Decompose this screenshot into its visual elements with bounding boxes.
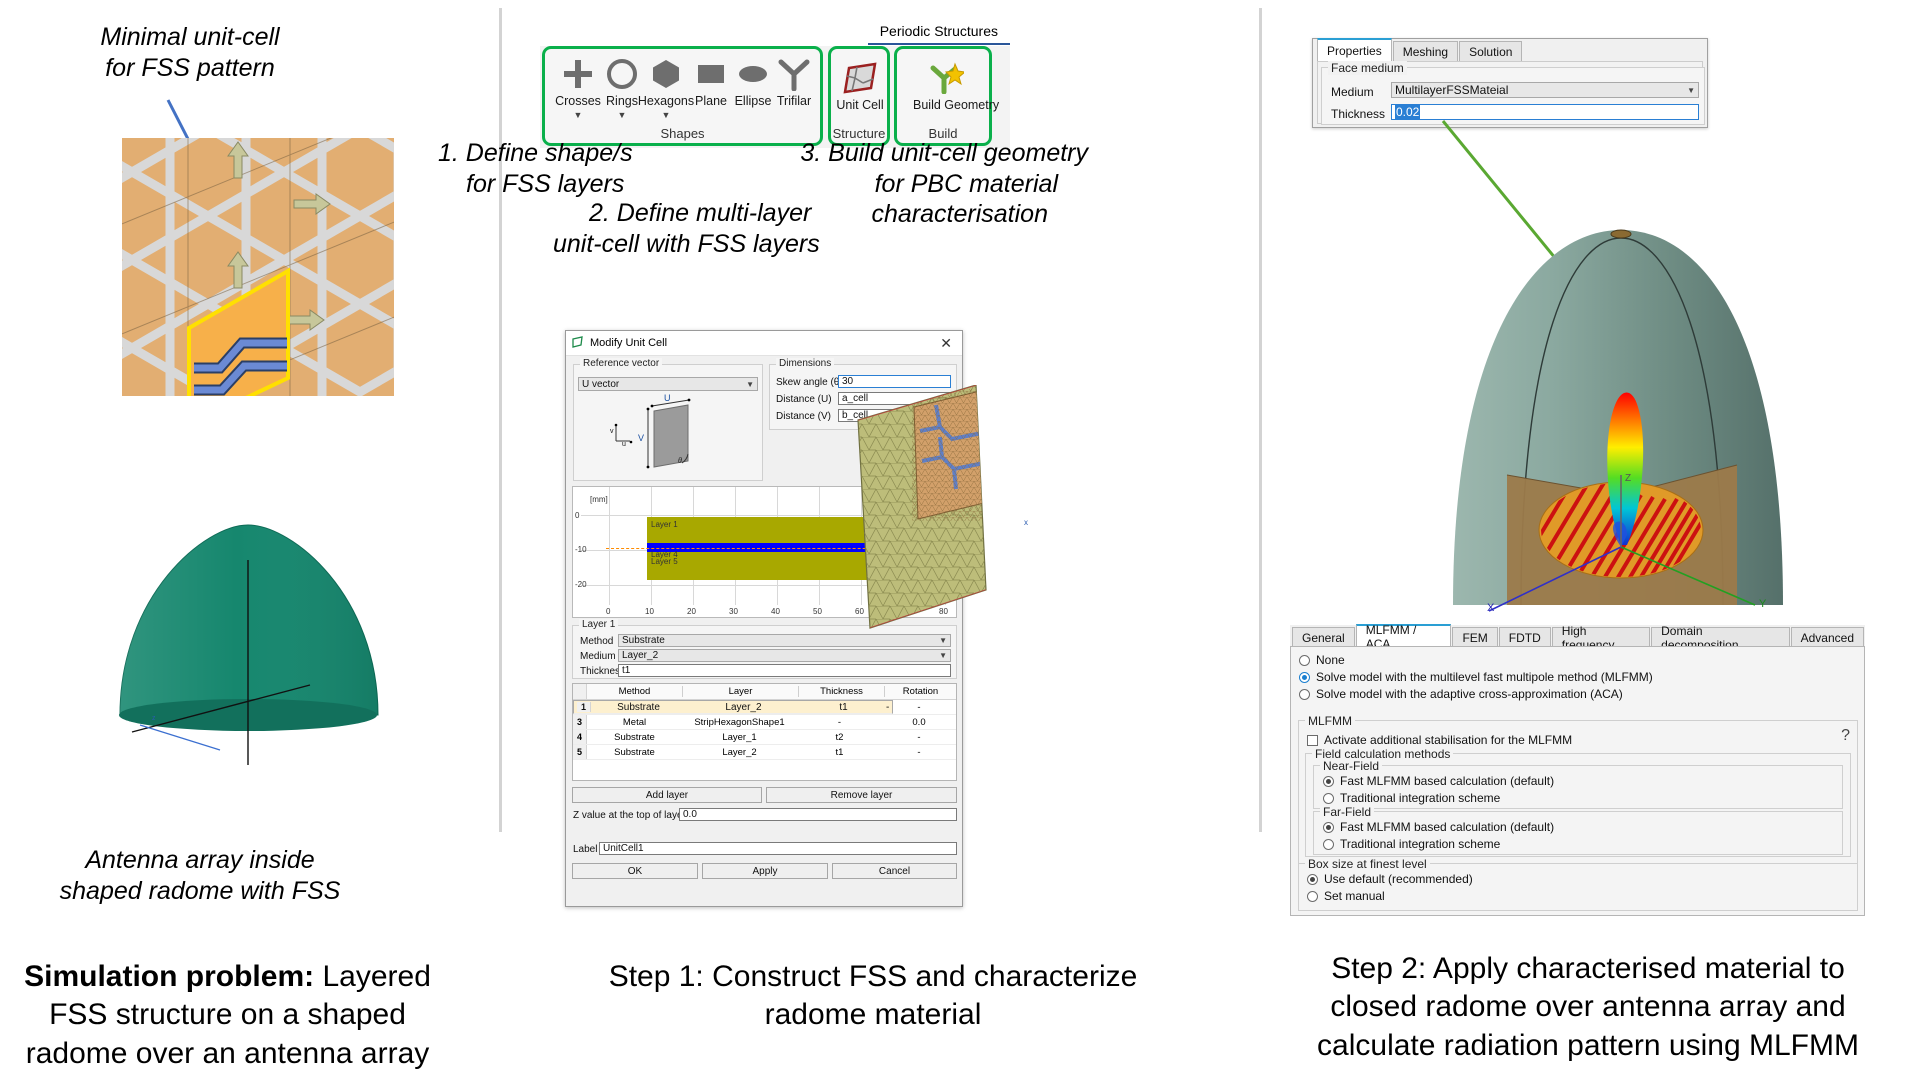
option-label: Set manual: [1324, 889, 1385, 903]
svg-text:θ: θ: [678, 456, 682, 465]
layer-method-select[interactable]: Substrate ▼: [618, 634, 951, 647]
medium-select[interactable]: MultilayerFSSMateial ▼: [1391, 82, 1699, 98]
table-row[interactable]: 4 Substrate Layer_1 t2 -: [573, 730, 956, 745]
y-tick: -20: [575, 580, 587, 589]
label-field-label: Label: [573, 844, 597, 855]
thickness-value: 0.02: [1395, 105, 1420, 119]
row-thickness: t1: [801, 702, 886, 713]
ok-button[interactable]: OK: [572, 863, 698, 879]
table-header-row: Method Layer Thickness Rotation: [573, 684, 956, 700]
unit-cell-icon: [829, 57, 891, 99]
table-header-index: [573, 684, 587, 699]
box-size-manual-option[interactable]: Set manual: [1307, 889, 1385, 903]
row-rotation: -: [882, 732, 956, 743]
row-rotation: -: [886, 702, 889, 713]
fss-unit-cell-mesh-view: x: [848, 385, 1038, 630]
layer-medium-label: Medium: [580, 651, 616, 662]
row-method: Substrate: [587, 747, 682, 758]
caption-simulation-problem: Simulation problem: Layered FSS structur…: [0, 958, 455, 1073]
ribbon-button-label: Build Geometry: [913, 99, 979, 112]
radio-mlfmm[interactable]: [1299, 672, 1310, 683]
annotation-line: shaped radome with FSS: [30, 876, 370, 907]
far-field-traditional-option[interactable]: Traditional integration scheme: [1323, 837, 1500, 851]
option-label: Fast MLFMM based calculation (default): [1340, 774, 1554, 788]
chart-stack-label: Layer 5: [651, 557, 678, 566]
cancel-button[interactable]: Cancel: [832, 863, 957, 879]
apply-button[interactable]: Apply: [702, 863, 828, 879]
tab-high-frequency[interactable]: High frequency: [1552, 627, 1650, 647]
svg-text:U: U: [664, 393, 671, 403]
add-layer-button[interactable]: Add layer: [572, 787, 762, 803]
build-geometry-icon: [913, 57, 979, 99]
group-label: MLFMM: [1305, 714, 1355, 728]
annotation-step-3: 3. Build unit-cell geometry for PBC mate…: [758, 138, 1088, 230]
chevron-down-icon: ▼: [939, 636, 947, 645]
layer-method-label: Method: [580, 636, 613, 647]
layer-thickness-input[interactable]: t1: [618, 664, 951, 677]
option-label: Solve model with the multilevel fast mul…: [1316, 670, 1653, 684]
group-label: Near-Field: [1320, 759, 1382, 773]
layer-table[interactable]: Method Layer Thickness Rotation 1 Substr…: [572, 683, 957, 781]
caption-line: Step 2: Apply characterised material to: [1253, 950, 1920, 988]
tab-fdtd[interactable]: FDTD: [1499, 627, 1551, 647]
row-index: 3: [573, 715, 587, 729]
periodic-structures-ribbon: Periodic Structures Crosses ▼: [540, 20, 1010, 148]
radio-near-field-fast[interactable]: [1323, 776, 1334, 787]
thickness-label: Thickness: [1331, 107, 1385, 121]
tab-meshing[interactable]: Meshing: [1393, 41, 1458, 61]
caption-line: radome material: [473, 996, 1273, 1034]
group-label: Reference vector: [580, 358, 662, 369]
ribbon-tab-row: Periodic Structures: [540, 20, 1010, 46]
row-thickness: t1: [797, 747, 882, 758]
y-tick: -10: [575, 545, 587, 554]
properties-tab-strip: Properties Meshing Solution: [1313, 39, 1707, 61]
tab-solution[interactable]: Solution: [1459, 41, 1522, 61]
annotation-line: Minimal unit-cell: [40, 22, 340, 53]
option-label: None: [1316, 653, 1345, 667]
fss-pattern-image: [122, 138, 394, 396]
x-tick: 50: [813, 607, 822, 616]
near-field-traditional-option[interactable]: Traditional integration scheme: [1323, 791, 1500, 805]
ribbon-body: Crosses ▼ Rings ▼ Hexagons: [540, 46, 1010, 148]
row-rotation: 0.0: [882, 717, 956, 728]
medium-label: Medium: [1331, 85, 1374, 99]
table-row[interactable]: 1 Substrate Layer_2 t1 -: [573, 700, 893, 714]
row-method: Metal: [587, 717, 682, 728]
label-value: UnitCell1: [603, 843, 644, 854]
annotation-line: for FSS layers: [438, 169, 768, 200]
ribbon-group-shapes: Crosses ▼ Rings ▼ Hexagons: [542, 46, 823, 146]
medium-value: MultilayerFSSMateial: [1395, 83, 1508, 97]
x-tick: 40: [771, 607, 780, 616]
ribbon-button-build-geometry[interactable]: Build Geometry: [913, 57, 979, 112]
row-thickness: t2: [797, 732, 882, 743]
x-tick: 0: [606, 607, 610, 616]
annotation-antenna-array-inside: Antenna array inside shaped radome with …: [30, 845, 370, 906]
tab-periodic-structures[interactable]: Periodic Structures: [868, 20, 1010, 45]
group-label: Dimensions: [776, 358, 834, 369]
row-layer: Layer_1: [682, 732, 797, 743]
annotation-line: for FSS pattern: [40, 53, 340, 84]
option-label: Traditional integration scheme: [1340, 837, 1500, 851]
svg-text:V: V: [638, 433, 644, 443]
x-tick: 10: [645, 607, 654, 616]
table-header-thickness: Thickness: [799, 686, 885, 697]
svg-text:u: u: [622, 441, 626, 448]
reference-vector-value: U vector: [582, 379, 619, 390]
ribbon-group-build: Build Geometry Build: [894, 46, 992, 146]
annotation-line: for PBC material: [758, 169, 1088, 200]
box-size-default-option[interactable]: Use default (recommended): [1307, 872, 1473, 886]
annotation-line: unit-cell with FSS layers: [553, 229, 913, 260]
caption-line: closed radome over antenna array and: [1253, 988, 1920, 1026]
label-input[interactable]: UnitCell1: [599, 842, 957, 855]
chevron-down-icon: ▼: [1687, 86, 1695, 95]
tab-properties[interactable]: Properties: [1317, 38, 1392, 61]
option-label: Fast MLFMM based calculation (default): [1340, 820, 1554, 834]
ribbon-group-structure: Unit Cell Structure: [828, 46, 890, 146]
ribbon-button-label: Unit Cell: [829, 99, 891, 112]
table-header-method: Method: [587, 686, 683, 697]
tab-general[interactable]: General: [1292, 627, 1355, 647]
grid-line: [609, 487, 610, 605]
y-tick: 0: [575, 511, 579, 520]
row-layer: Layer_2: [686, 702, 801, 713]
radio-far-field-fast[interactable]: [1323, 822, 1334, 833]
layer-medium-select[interactable]: Layer_2 ▼: [618, 649, 951, 662]
radio-box-size-manual[interactable]: [1307, 891, 1318, 902]
z-top-label: Z value at the top of layer 1: [573, 810, 694, 821]
table-row[interactable]: 5 Substrate Layer_2 t1 -: [573, 745, 956, 760]
close-icon[interactable]: ✕: [936, 336, 956, 350]
group-label: Box size at finest level: [1305, 857, 1430, 871]
caption-line: Step 1: Construct FSS and characterize: [473, 958, 1273, 996]
tab-fem[interactable]: FEM: [1452, 627, 1497, 647]
unit-cell-diagram: U V θ v u: [596, 393, 756, 475]
slide-root: Minimal unit-cell for FSS pattern: [0, 0, 1920, 1080]
option-label: Traditional integration scheme: [1340, 791, 1500, 805]
help-icon[interactable]: ?: [1841, 727, 1850, 745]
x-tick: 20: [687, 607, 696, 616]
radome-3d-left-view: z: [80, 500, 420, 830]
axis-x-label: x: [1024, 518, 1028, 527]
near-field-fast-option[interactable]: Fast MLFMM based calculation (default): [1323, 774, 1554, 788]
remove-layer-button[interactable]: Remove layer: [766, 787, 957, 803]
axis-y-label: Y: [1759, 598, 1767, 610]
z-top-input[interactable]: 0.0: [679, 808, 957, 821]
chevron-down-icon: ▼: [939, 651, 947, 660]
svg-text:v: v: [610, 428, 614, 435]
reference-vector-select[interactable]: U vector ▼: [578, 377, 758, 391]
tab-mlfmm-aca[interactable]: MLFMM / ACA: [1356, 624, 1452, 647]
option-label: Activate additional stabilisation for th…: [1324, 733, 1572, 747]
annotation-line: characterisation: [758, 199, 1088, 230]
solver-settings-body: None Solve model with the multilevel fas…: [1290, 646, 1865, 916]
row-rotation: -: [882, 747, 956, 758]
dialog-title: Modify Unit Cell: [590, 337, 667, 349]
caption-line: calculate radiation pattern using MLFMM: [1253, 1027, 1920, 1065]
table-row[interactable]: 3 Metal StripHexagonShape1 - 0.0: [573, 715, 956, 730]
chart-stack-label: Layer 1: [651, 520, 678, 529]
row-method: Substrate: [591, 702, 686, 713]
radio-near-field-traditional[interactable]: [1323, 793, 1334, 804]
unit-cell-app-icon: [572, 336, 584, 351]
ribbon-button-trifilar[interactable]: Trifilar: [764, 53, 824, 108]
annotation-step-1: 1. Define shape/s for FSS layers: [438, 138, 768, 199]
option-none[interactable]: None: [1299, 653, 1864, 667]
option-label: Solve model with the adaptive cross-appr…: [1316, 687, 1623, 701]
row-index: 5: [573, 745, 587, 759]
radio-far-field-traditional[interactable]: [1323, 839, 1334, 850]
tab-domain-decomposition[interactable]: Domain decomposition: [1651, 627, 1789, 647]
dialog-title-bar: Modify Unit Cell ✕: [566, 331, 962, 356]
radio-none[interactable]: [1299, 655, 1310, 666]
row-layer: Layer_2: [682, 747, 797, 758]
far-field-fast-option[interactable]: Fast MLFMM based calculation (default): [1323, 820, 1554, 834]
row-thickness: -: [797, 717, 882, 728]
distance-v-label: Distance (V): [776, 411, 831, 422]
x-tick: 30: [729, 607, 738, 616]
properties-window: Properties Meshing Solution Face medium …: [1312, 38, 1708, 128]
annotation-minimal-unit-cell: Minimal unit-cell for FSS pattern: [40, 22, 340, 83]
table-header-rotation: Rotation: [885, 686, 956, 697]
caption-bold-lead: Simulation problem:: [24, 960, 314, 993]
solver-tab-strip: General MLFMM / ACA FEM FDTD High freque…: [1290, 625, 1865, 647]
ribbon-button-label: Trifilar: [764, 95, 824, 108]
trifilar-icon: [764, 53, 824, 95]
left-column: Minimal unit-cell for FSS pattern: [0, 0, 500, 1080]
axis-x-label: X: [1487, 602, 1495, 614]
chevron-down-icon: ▼: [746, 380, 754, 389]
axis-z-label: Z: [1625, 473, 1631, 484]
row-method: Substrate: [587, 732, 682, 743]
row-layer: StripHexagonShape1: [682, 717, 797, 728]
caption-step-1: Step 1: Construct FSS and characterize r…: [473, 958, 1273, 1035]
radio-aca[interactable]: [1299, 689, 1310, 700]
chart-unit-label: [mm]: [590, 495, 608, 504]
skew-angle-label: Skew angle (θ ): [776, 377, 845, 388]
group-label: Face medium: [1328, 61, 1407, 75]
annotation-line: 3. Build unit-cell geometry: [758, 138, 1088, 169]
option-mlfmm[interactable]: Solve model with the multilevel fast mul…: [1299, 670, 1864, 684]
layer-medium-value: Layer_2: [622, 650, 658, 661]
group-label: Layer 1: [579, 619, 618, 630]
z-top-value: 0.0: [683, 809, 697, 820]
chevron-down-icon[interactable]: ▼: [636, 111, 696, 120]
layer-method-value: Substrate: [622, 635, 665, 646]
ribbon-button-unit-cell[interactable]: Unit Cell: [829, 57, 891, 112]
stabilisation-checkbox-row[interactable]: Activate additional stabilisation for th…: [1307, 733, 1572, 747]
right-column: Properties Meshing Solution Face medium …: [1263, 0, 1920, 1080]
layer-thickness-value: t1: [622, 665, 630, 676]
option-label: Use default (recommended): [1324, 872, 1473, 886]
checkbox-stabilisation[interactable]: [1307, 735, 1318, 746]
middle-column: Periodic Structures Crosses ▼: [503, 0, 1260, 1080]
box-size-group: Box size at finest level: [1298, 863, 1858, 911]
distance-u-label: Distance (U): [776, 394, 832, 405]
caption-step-2: Step 2: Apply characterised material to …: [1253, 950, 1920, 1065]
svg-text:z: z: [152, 715, 156, 722]
row-index: 4: [573, 730, 587, 744]
tab-advanced[interactable]: Advanced: [1791, 627, 1864, 647]
annotation-line: 1. Define shape/s: [438, 138, 768, 169]
group-label: Far-Field: [1320, 805, 1374, 819]
radome-with-antenna-array-3d: X Y Z: [1293, 175, 1893, 615]
option-aca[interactable]: Solve model with the adaptive cross-appr…: [1299, 687, 1864, 701]
annotation-line: Antenna array inside: [30, 845, 370, 876]
radio-box-size-default[interactable]: [1307, 874, 1318, 885]
row-index: 1: [577, 702, 591, 712]
table-header-layer: Layer: [683, 686, 799, 697]
